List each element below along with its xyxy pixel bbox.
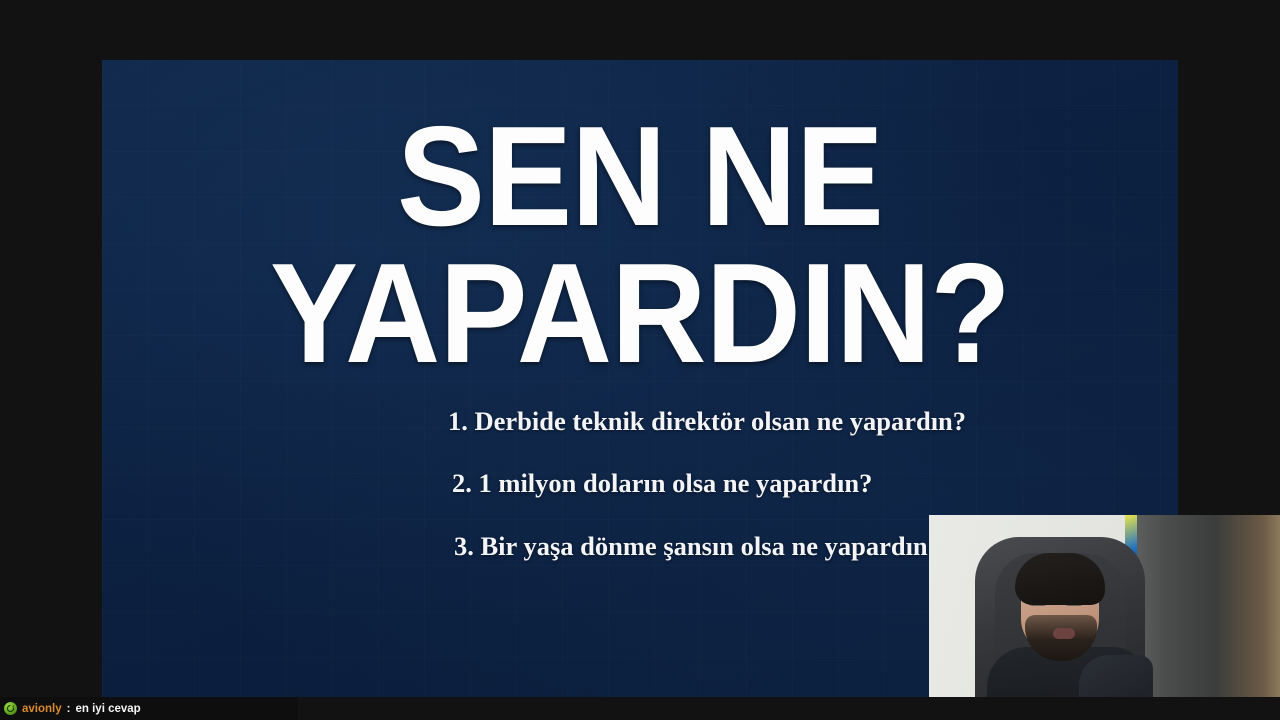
webcam-person-hair [1015,553,1105,605]
stream-screen: SEN NE YAPARDIN? 1. Derbide teknik direk… [0,0,1280,720]
chat-username[interactable]: avionly [22,703,62,715]
webcam-overlay: F. TOLUNAY 4 [929,515,1280,720]
slide-title-line-1: SEN NE [140,112,1141,243]
chat-message-row: avionly : en iyi cevap [4,697,141,720]
question-list: 1. Derbide teknik direktör olsan ne yapa… [448,405,968,563]
chat-overlay-bar: avionly : en iyi cevap [0,697,1280,720]
webcam-person-mouth [1053,628,1075,639]
question-item: 3. Bir yaşa dönme şansın olsa ne yapardı… [448,530,968,563]
slide-title-line-2: YAPARDIN? [140,249,1141,380]
chat-message-text: en iyi cevap [75,703,140,715]
slide-title: SEN NE YAPARDIN? [102,112,1178,379]
subscriber-badge-icon [4,702,17,715]
chat-separator: : [67,703,71,715]
question-item: 2. 1 milyon doların olsa ne yapardın? [448,467,968,500]
question-item: 1. Derbide teknik direktör olsan ne yapa… [448,405,968,438]
webcam-bookcase: F. TOLUNAY 4 [1137,515,1280,720]
